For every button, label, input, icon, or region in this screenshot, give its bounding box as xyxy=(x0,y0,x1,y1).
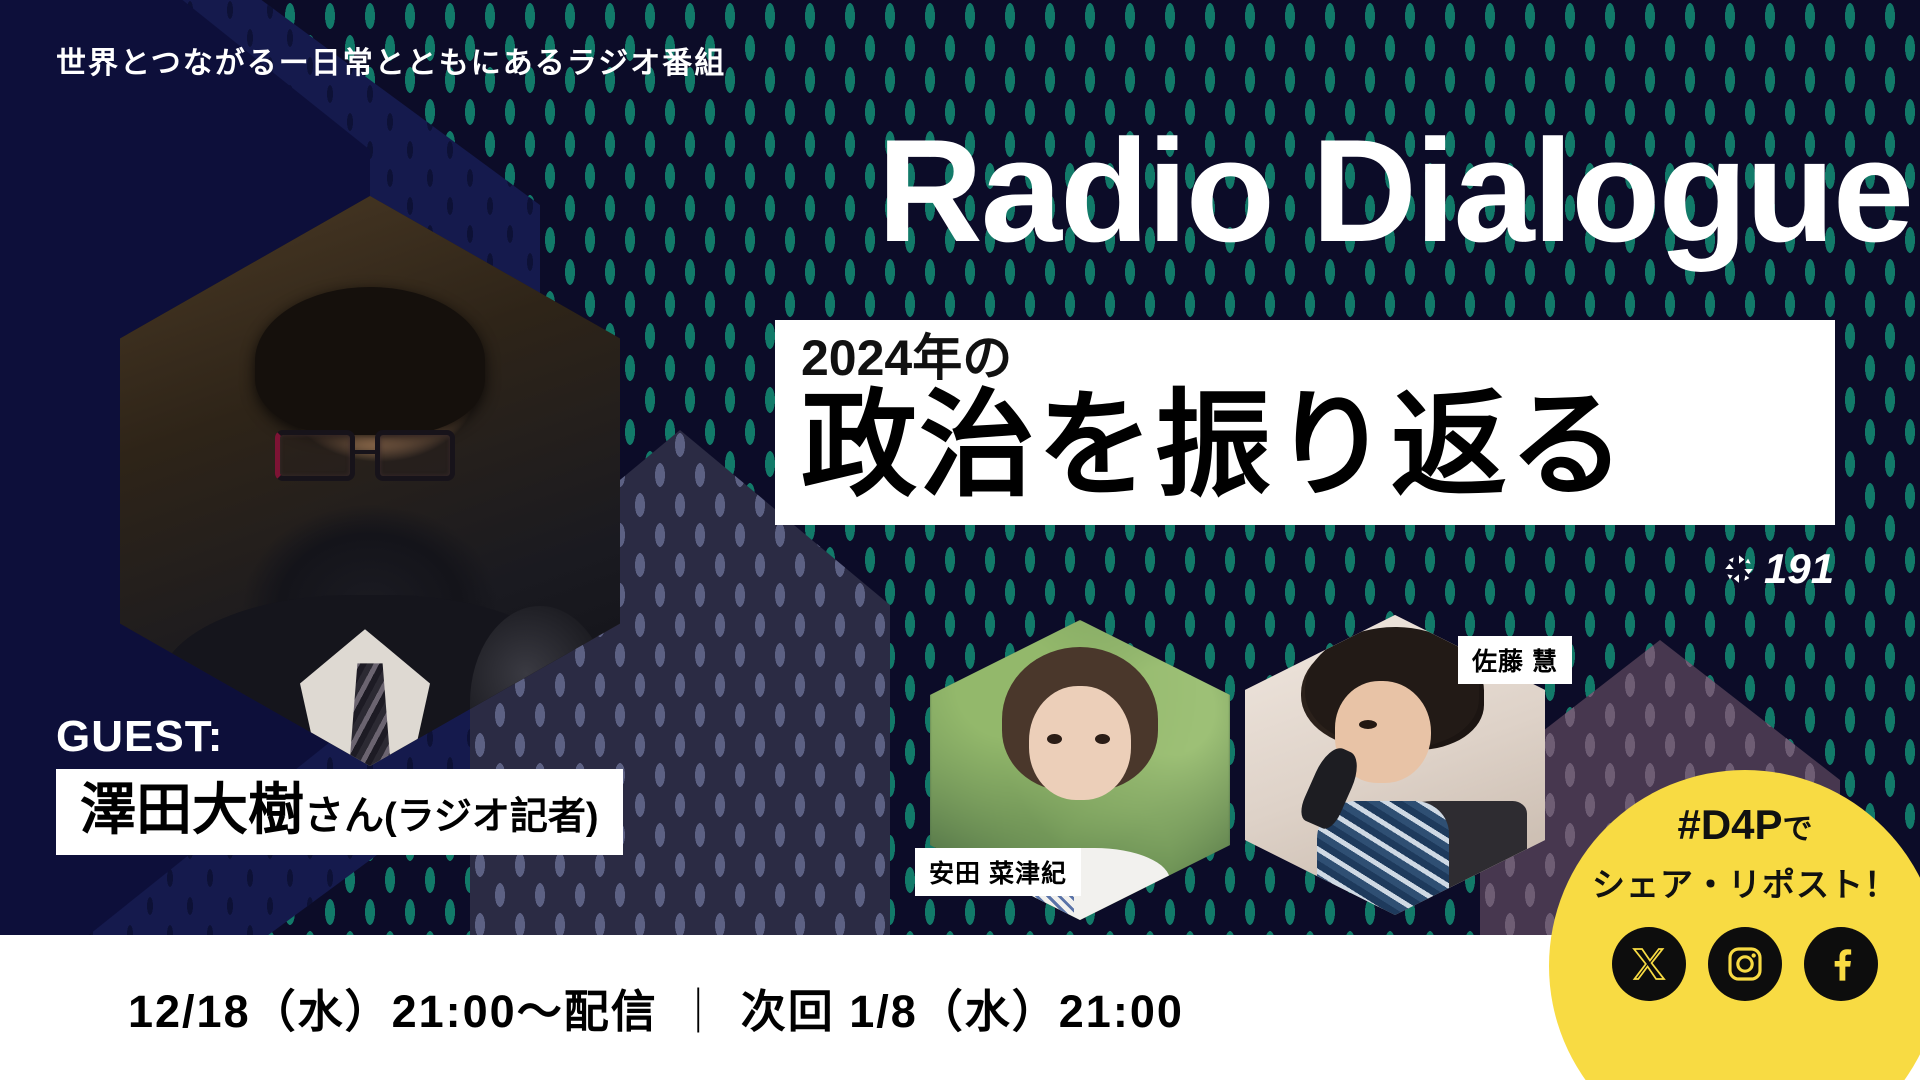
share-hashtag-line: #D4Pで xyxy=(1677,804,1812,846)
guest-kicker: GUEST: xyxy=(56,715,623,759)
guest-label-block: GUEST: 澤田大樹さん(ラジオ記者) xyxy=(56,715,623,855)
guest-honorific: さん xyxy=(304,794,384,838)
poster-root: 世界とつながるー日常とともにあるラジオ番組 Radio Dialogue 202… xyxy=(0,0,1920,1080)
guest-hair xyxy=(255,287,485,435)
program-tagline: 世界とつながるー日常とともにあるラジオ番組 xyxy=(56,38,726,82)
instagram-icon[interactable] xyxy=(1708,927,1782,1001)
guest-name-box: 澤田大樹さん(ラジオ記者) xyxy=(56,769,623,855)
next-datetime: 次回 1/8（水）21:00 xyxy=(741,986,1184,1037)
program-title: Radio Dialogue xyxy=(877,118,1912,264)
x-twitter-icon[interactable] xyxy=(1612,927,1686,1001)
share-hashtag-suffix: で xyxy=(1783,813,1813,846)
schedule-separator: ｜ xyxy=(676,986,723,1037)
schedule-text: 12/18（水）21:00〜配信｜次回 1/8（水）21:00 xyxy=(128,975,1184,1040)
episode-headline: 政治を振り返る xyxy=(801,385,1809,506)
episode-title-box: 2024年の 政治を振り返る xyxy=(775,320,1835,525)
episode-number-badge: 191 xyxy=(1722,548,1834,590)
air-datetime: 12/18（水）21:00〜配信 xyxy=(128,986,658,1037)
guest-name: 澤田大樹 xyxy=(80,778,304,841)
social-icon-row xyxy=(1612,927,1878,1001)
guest-role: (ラジオ記者) xyxy=(384,796,599,838)
guest-name-line: 澤田大樹さん(ラジオ記者) xyxy=(80,779,599,841)
host-b-eye xyxy=(1359,720,1377,729)
guest-glasses-left xyxy=(275,430,355,481)
host-name-tag-yasuda: 安田 菜津紀 xyxy=(915,848,1081,896)
guest-glasses-right xyxy=(375,430,455,481)
guest-glasses-bridge xyxy=(353,450,381,454)
episode-number: 191 xyxy=(1764,548,1834,590)
share-cta: シェア・リポスト！ xyxy=(1592,868,1898,901)
host-a-face xyxy=(1029,686,1131,800)
share-hashtag: #D4P xyxy=(1677,801,1782,848)
facebook-icon[interactable] xyxy=(1804,927,1878,1001)
episode-year-label: 2024年の xyxy=(801,332,1809,385)
host-name-tag-sato: 佐藤 慧 xyxy=(1458,636,1572,684)
refresh-loop-icon xyxy=(1722,552,1756,586)
